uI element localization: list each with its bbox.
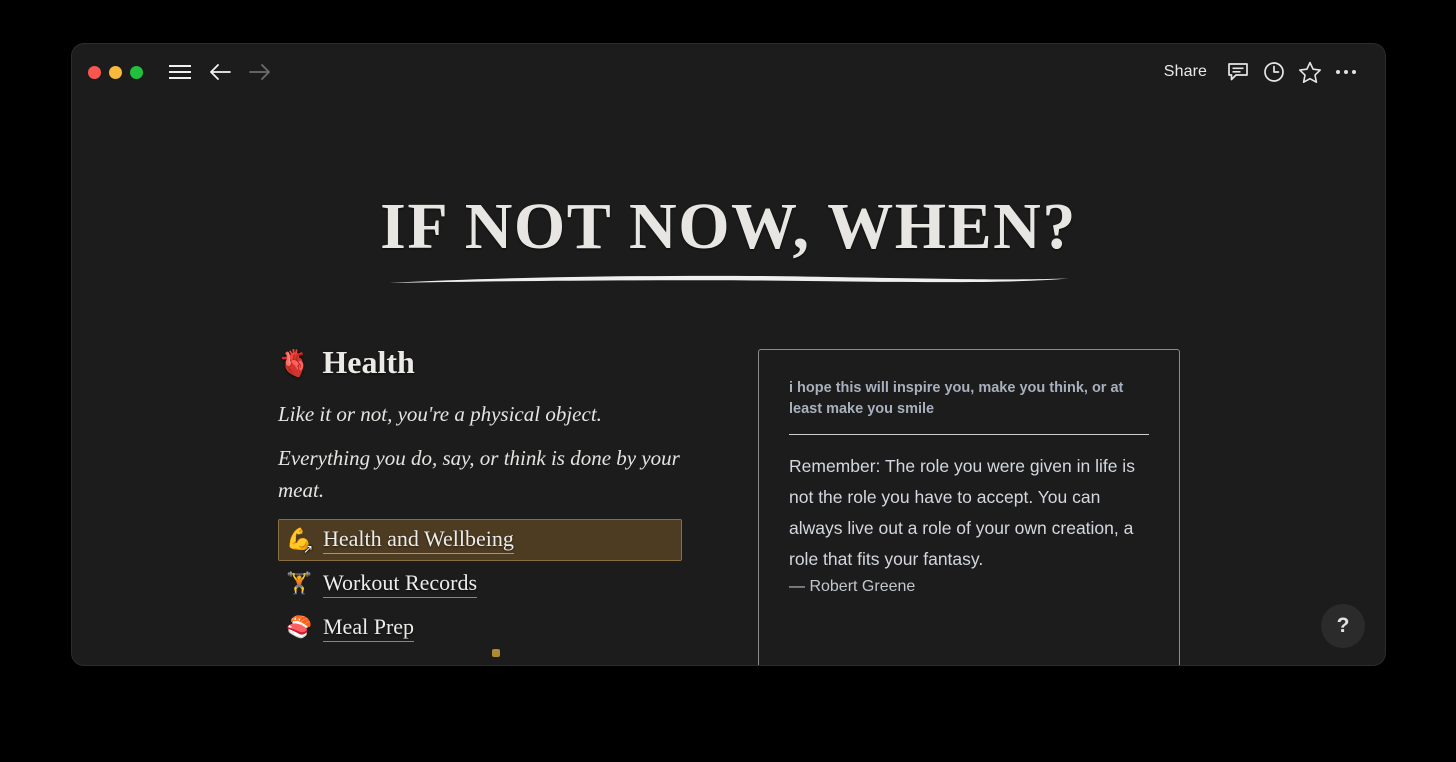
page-title: IF NOT NOW, WHEN? <box>72 194 1385 260</box>
quote-card-body: Remember: The role you were given in lif… <box>789 451 1149 576</box>
list-item-label: Meal Prep <box>323 614 414 642</box>
dot-3 <box>1352 70 1357 75</box>
health-link-list: 💪 ↗ Health and Wellbeing 🏋️ Workout Reco… <box>278 519 702 649</box>
content-columns: 🫀 Health Like it or not, you're a physic… <box>72 344 1385 665</box>
flexed-biceps-emoji: 💪 ↗ <box>286 529 312 550</box>
share-button[interactable]: Share <box>1152 57 1219 87</box>
anatomical-heart-emoji: 🫀 <box>278 351 310 377</box>
list-item-meal-prep[interactable]: 🍣 Meal Prep <box>278 607 702 649</box>
list-item-label: Workout Records <box>323 570 477 598</box>
close-window-button[interactable] <box>88 66 101 79</box>
title-bar-actions: Share <box>1152 55 1363 89</box>
more-options-dots <box>1336 70 1357 75</box>
navigation-controls <box>163 55 277 89</box>
clipped-emoji-sliver <box>492 649 500 657</box>
app-window: Share <box>72 44 1385 665</box>
weight-lifter-emoji: 🏋️ <box>286 573 312 594</box>
more-options-icon[interactable] <box>1329 55 1363 89</box>
quote-card: i hope this will inspire you, make you t… <box>758 349 1180 665</box>
right-column: i hope this will inspire you, make you t… <box>758 349 1180 665</box>
back-arrow-icon[interactable] <box>203 55 237 89</box>
star-icon[interactable] <box>1293 55 1327 89</box>
section-heading-label: Health <box>322 344 414 381</box>
minimize-window-button[interactable] <box>109 66 122 79</box>
quote-card-divider <box>789 434 1149 435</box>
page-content: IF NOT NOW, WHEN? 🫀 Health Like it or no… <box>72 100 1385 665</box>
help-button[interactable]: ? <box>1321 604 1365 648</box>
section-blurb-line-2: Everything you do, say, or think is done… <box>278 443 698 507</box>
list-item-health-and-wellbeing[interactable]: 💪 ↗ Health and Wellbeing <box>278 519 682 561</box>
clock-history-icon[interactable] <box>1257 55 1291 89</box>
section-blurb-line-1: Like it or not, you're a physical object… <box>278 399 698 431</box>
quote-card-attribution: — Robert Greene <box>789 578 1149 596</box>
screen: Share <box>0 0 1456 762</box>
forward-arrow-icon[interactable] <box>243 55 277 89</box>
left-column: 🫀 Health Like it or not, you're a physic… <box>278 344 702 651</box>
list-item-workout-records[interactable]: 🏋️ Workout Records <box>278 563 702 605</box>
section-heading-health: 🫀 Health <box>278 344 702 381</box>
dot-2 <box>1344 70 1349 75</box>
comment-bubble-icon[interactable] <box>1221 55 1255 89</box>
title-swash-underline <box>387 274 1071 288</box>
hamburger-menu-icon[interactable] <box>163 55 197 89</box>
title-bar: Share <box>72 44 1385 100</box>
quote-card-header: i hope this will inspire you, make you t… <box>789 378 1149 420</box>
external-link-arrow-icon: ↗ <box>303 543 313 555</box>
window-controls <box>88 66 143 79</box>
maximize-window-button[interactable] <box>130 66 143 79</box>
list-item-label: Health and Wellbeing <box>323 526 514 554</box>
dot-1 <box>1336 70 1341 75</box>
page-title-container: IF NOT NOW, WHEN? <box>72 194 1385 288</box>
sushi-emoji: 🍣 <box>286 617 312 638</box>
